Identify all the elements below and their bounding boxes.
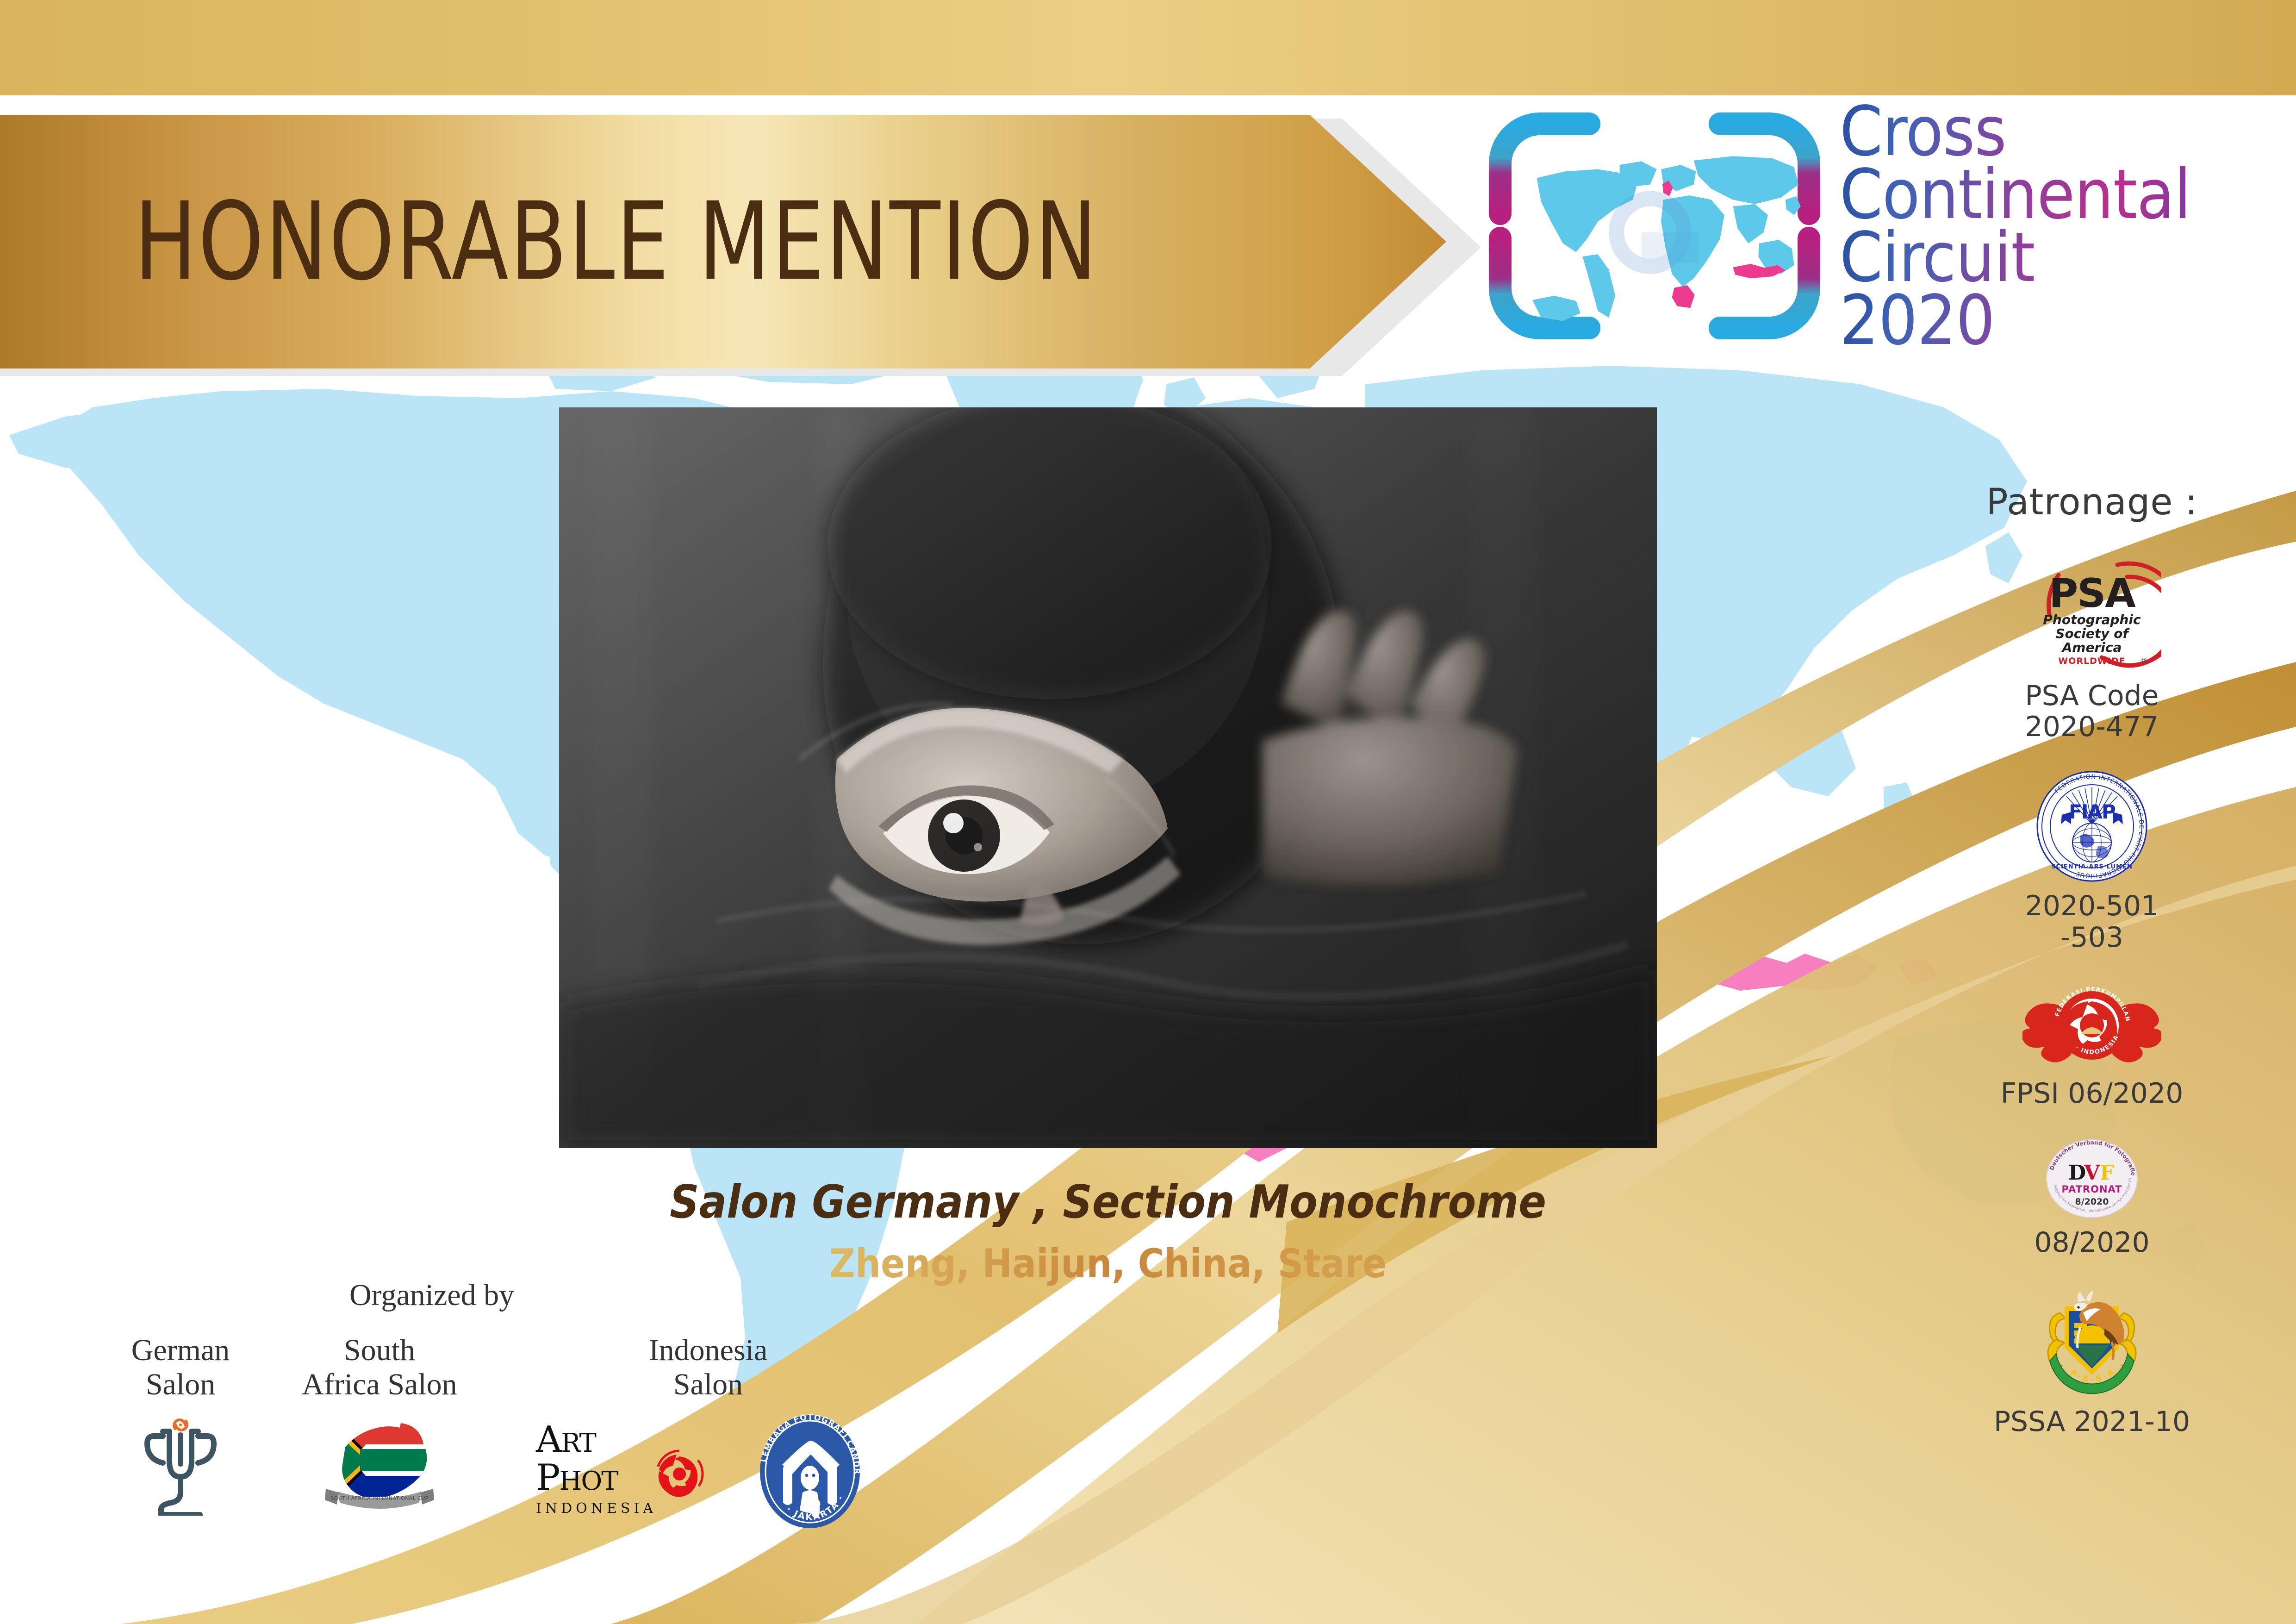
brand-wordmark: Cross Continental Circuit 2020 [1840, 100, 2191, 352]
patronage-panel: Patronage : PSA Photographic Society of … [1930, 481, 2254, 1437]
svg-text:D: D [2068, 1161, 2086, 1185]
south-africa-flag-map-icon: SOUTH AFRICA INTERNATIONAL CUP [319, 1414, 440, 1516]
organized-by-label: Organized by [349, 1278, 514, 1313]
art-photo-indonesia-icon: ART PHOT [532, 1414, 727, 1520]
patronage-item-fiap: FEDERATION INTERNATIONALE DE L'ART PHOTO… [1930, 768, 2254, 953]
organizer-south-africa-salon: South Africa Salon [278, 1333, 481, 1516]
award-photograph [559, 407, 1657, 1148]
pssa-shield-icon: P·S·S·A [2034, 1284, 2150, 1400]
organizer-label-indonesia: Indonesia Salon [491, 1333, 907, 1402]
organizer-indonesia-salon: Indonesia Salon ART PHOT [491, 1333, 907, 1530]
award-title: HONORABLE MENTION [134, 179, 1099, 304]
pssa-code: PSSA 2021-10 [1994, 1406, 2190, 1437]
svg-text:America: America [2061, 640, 2122, 655]
caption-salon-section: Salon Germany , Section Monochrome [559, 1176, 1657, 1229]
fpsi-seal-icon: FEDERASI PERKUMPULAN SENI FOTO · INDONES… [2022, 979, 2161, 1072]
svg-text:PHOT: PHOT [536, 1457, 618, 1499]
patronage-item-fpsi: FEDERASI PERKUMPULAN SENI FOTO · INDONES… [1930, 979, 2254, 1109]
fiap-code: 2020-501 -503 [2025, 891, 2159, 953]
psa-code: PSA Code 2020-477 [2025, 681, 2159, 743]
patronage-item-dvf: Deutscher Verband für Fotografie e.V. Mi… [1930, 1135, 2254, 1258]
organizers-panel: Organized by German Salon [93, 1278, 1018, 1565]
organizer-label-south-africa: South Africa Salon [278, 1333, 481, 1402]
svg-text:INDONESIA: INDONESIA [536, 1500, 657, 1517]
svg-text:Society of: Society of [2055, 626, 2130, 641]
brand-line-3: Circuit [1840, 226, 2191, 289]
camera-frame-world-map-icon [1488, 112, 1821, 339]
svg-text:Photographic: Photographic [2043, 612, 2141, 627]
svg-text:PATRONAT: PATRONAT [2062, 1184, 2122, 1195]
award-banner: HONORABLE MENTION [0, 115, 1495, 372]
svg-text:FIAP: FIAP [2069, 800, 2116, 823]
svg-text:PSA: PSA [2049, 570, 2136, 617]
svg-text:®: ® [2140, 656, 2148, 666]
brand-logo: Cross Continental Circuit 2020 [1488, 106, 2275, 346]
banner-gold-shape: HONORABLE MENTION [0, 115, 1446, 369]
brand-line-2: Continental [1840, 163, 2191, 226]
svg-text:WORLDWIDE: WORLDWIDE [2058, 656, 2125, 666]
svg-text:SCIENTIA·ARS·LUMEN: SCIENTIA·ARS·LUMEN [2051, 863, 2133, 870]
dvf-code: 08/2020 [2034, 1227, 2149, 1258]
patronage-item-psa: PSA Photographic Society of America WORL… [1930, 549, 2254, 743]
dvf-seal-icon: Deutscher Verband für Fotografie e.V. Mi… [2039, 1135, 2145, 1221]
german-salon-trophy-icon [139, 1414, 222, 1516]
brand-line-1: Cross [1840, 100, 2191, 163]
patronage-item-pssa: P·S·S·A PSSA 2021-10 [1930, 1284, 2254, 1437]
svg-text:8/2020: 8/2020 [2075, 1197, 2109, 1207]
psa-logo-icon: PSA Photographic Society of America WORL… [2022, 549, 2161, 674]
svg-text:V: V [2084, 1161, 2100, 1185]
svg-text:SOUTH AFRICA INTERNATIONAL CUP: SOUTH AFRICA INTERNATIONAL CUP [330, 1495, 429, 1501]
svg-text:F: F [2100, 1161, 2114, 1185]
lembaga-fotografi-candra-naya-icon: LEMBAGA FOTOGRAFI CANDRA NAYA · JAKARTA … [754, 1414, 865, 1530]
brand-line-4: 2020 [1840, 289, 2191, 352]
photo-caption: Salon Germany , Section Monochrome Zheng… [559, 1176, 1657, 1287]
fiap-seal-icon: FEDERATION INTERNATIONALE DE L'ART PHOTO… [2034, 768, 2150, 884]
fpsi-code: FPSI 06/2020 [2001, 1078, 2184, 1109]
certificate-page: HONORABLE MENTION [0, 0, 2296, 1624]
patronage-title: Patronage : [1930, 481, 2254, 523]
organizer-german-salon: German Salon [93, 1333, 268, 1516]
top-gold-strip [0, 0, 2296, 95]
svg-text:ART: ART [535, 1419, 597, 1461]
organizer-label-german: German Salon [93, 1333, 268, 1402]
